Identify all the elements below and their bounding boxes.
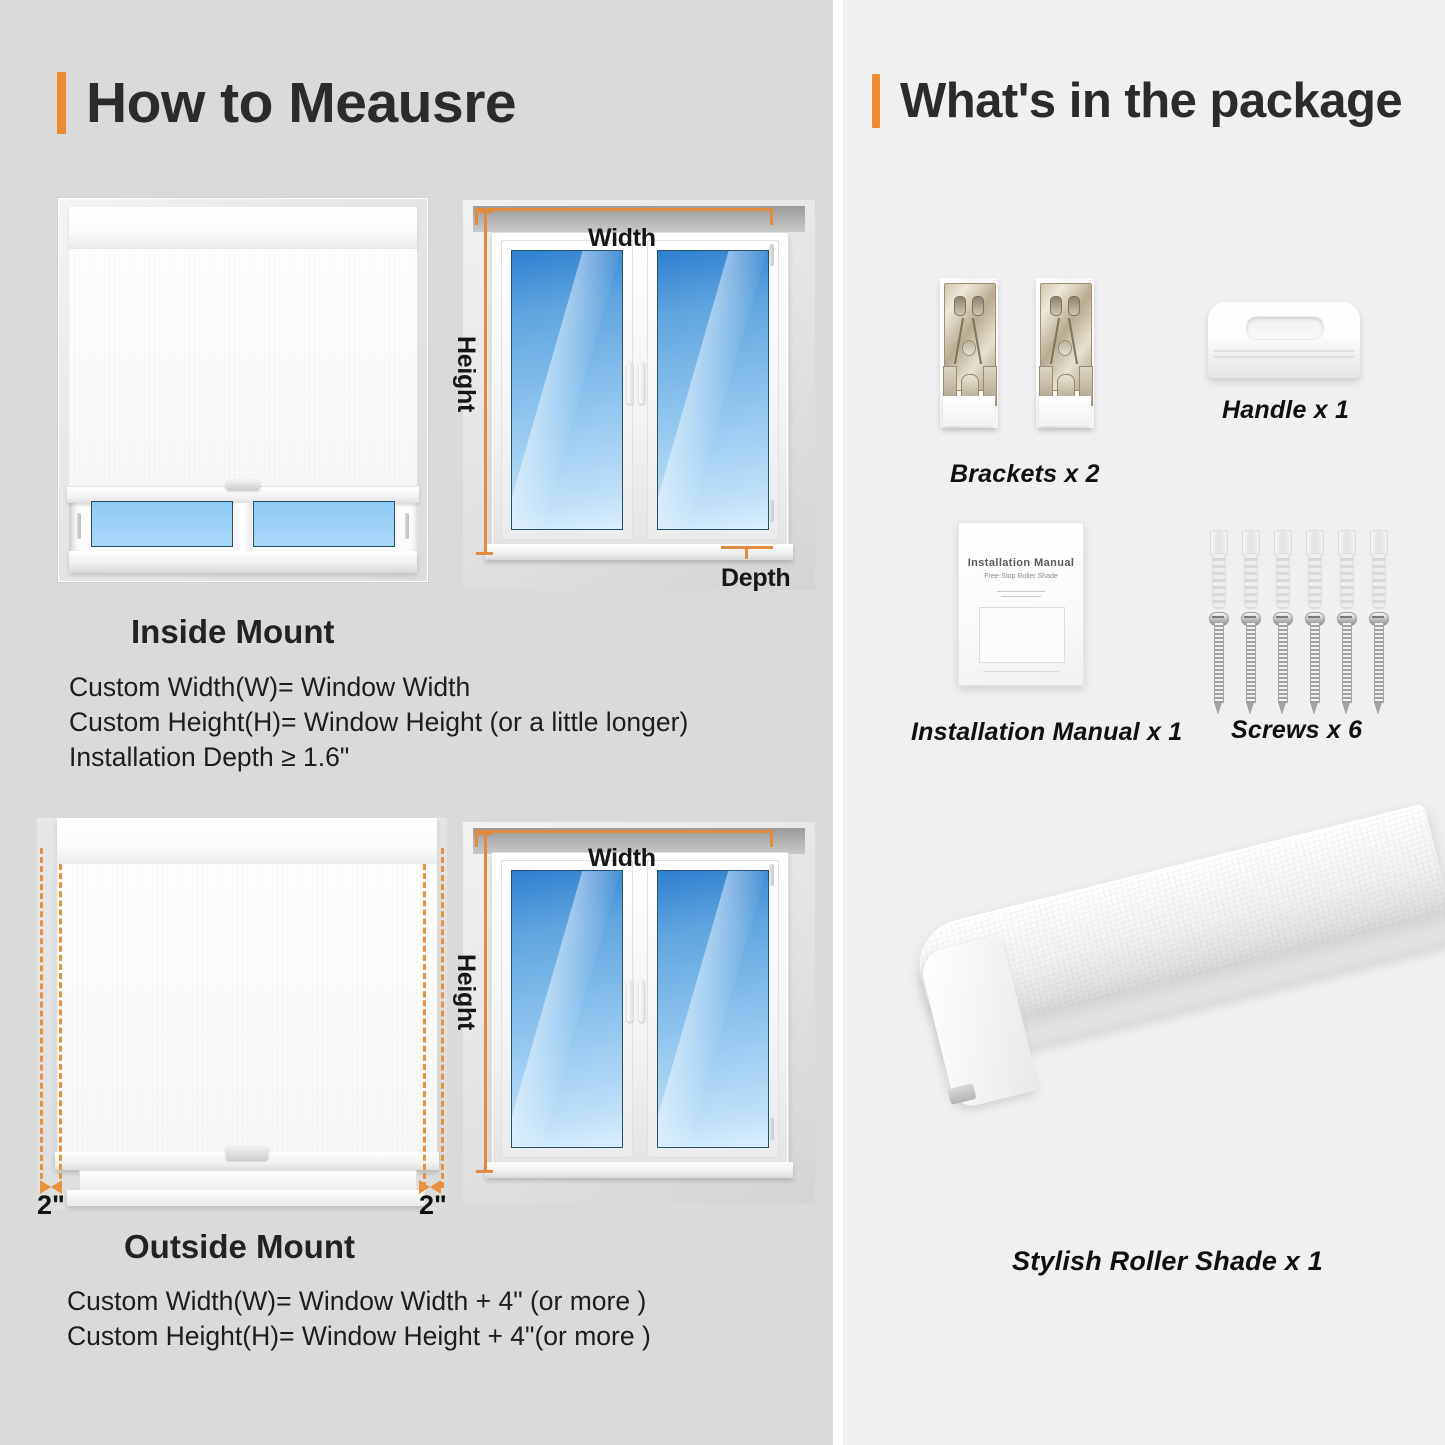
overhang-label-right: 2" <box>419 1190 447 1221</box>
width-dimension-line <box>475 208 773 211</box>
width-dimension-cap-right <box>770 208 773 225</box>
accent-bar-icon <box>57 72 66 134</box>
window-handle-right <box>639 980 645 1022</box>
window-glass-right <box>657 250 769 530</box>
inside-mount-spec-line: Custom Height(H)= Window Height (or a li… <box>69 705 688 740</box>
outside-mount-title: Outside Mount <box>124 1228 355 1266</box>
wall-anchor-icon <box>1336 530 1356 608</box>
window-sill <box>67 1190 425 1206</box>
window-sill <box>69 551 417 573</box>
screw-icon <box>1369 612 1387 716</box>
window-hinge-bottom <box>769 1118 774 1140</box>
outside-mount-shade-illustration <box>37 818 447 1210</box>
window-hinge-top <box>769 864 774 886</box>
wall-anchor-icon <box>1240 530 1260 608</box>
manual-icon: Installation Manual Free-Stop Roller Sha… <box>958 522 1084 686</box>
window-glass-left <box>91 501 233 547</box>
window-hinge-bottom <box>769 500 774 522</box>
handle-grip-slot <box>1246 316 1324 340</box>
window-handle-left <box>627 362 633 404</box>
how-to-measure-heading-text: How to Meausre <box>86 75 516 132</box>
screw-icon <box>1305 612 1323 716</box>
width-dimension-line <box>475 830 773 833</box>
window-latch-left <box>77 513 81 539</box>
outside-mount-spec-line: Custom Height(H)= Window Height + 4"(or … <box>67 1319 651 1354</box>
handle-label: Handle x 1 <box>1222 396 1349 425</box>
manual-scribble <box>1001 596 1041 597</box>
shade-fabric <box>69 249 417 495</box>
handle-groove <box>1214 350 1354 352</box>
infographic-page: How to Meausre What's in the package <box>0 0 1445 1445</box>
panel-divider <box>833 0 843 1445</box>
window-handle-right <box>639 362 645 404</box>
manual-cover-title: Installation Manual <box>959 557 1083 569</box>
manual-label: Installation Manual x 1 <box>911 718 1182 747</box>
wall-anchor-icon <box>1272 530 1292 608</box>
roller-shade-icon <box>915 890 1435 1210</box>
shade-headrail <box>57 818 437 865</box>
height-dimension-line <box>484 832 487 1172</box>
how-to-measure-heading: How to Meausre <box>57 72 516 134</box>
window-hinge-top <box>769 244 774 266</box>
width-label: Width <box>588 224 656 253</box>
inside-mount-spec-line: Custom Width(W)= Window Width <box>69 670 688 705</box>
height-label: Height <box>451 954 480 1030</box>
outside-mount-specs: Custom Width(W)= Window Width + 4" (or m… <box>67 1284 651 1354</box>
window-sill <box>485 1162 793 1178</box>
package-heading-text: What's in the package <box>900 77 1402 126</box>
screw-icon <box>1273 612 1291 716</box>
window-recess <box>69 207 417 573</box>
depth-label: Depth <box>721 564 790 593</box>
screw-icon <box>1209 612 1227 716</box>
shade-headrail <box>69 207 417 250</box>
wall-anchor-icon <box>1208 530 1228 608</box>
window-handle-left <box>627 980 633 1022</box>
manual-scribble <box>997 591 1045 592</box>
screws-label: Screws x 6 <box>1231 716 1362 745</box>
height-dimension-line <box>484 210 487 554</box>
screw-icon <box>1241 612 1259 716</box>
outside-mount-window-diagram: Width Height <box>463 822 815 1204</box>
handle-icon <box>1208 302 1360 378</box>
bracket-icon <box>940 278 998 428</box>
roller-shade-label: Stylish Roller Shade x 1 <box>1012 1246 1323 1277</box>
window-sash-behind <box>79 1170 417 1192</box>
shade-fabric <box>57 864 437 1154</box>
height-label: Height <box>451 336 480 412</box>
width-label: Width <box>588 844 656 873</box>
manual-cover-image <box>979 607 1065 663</box>
height-dimension-cap-bottom <box>476 552 493 555</box>
overhang-guide-left-inner <box>59 864 62 1188</box>
accent-bar-icon <box>872 74 880 128</box>
height-dimension-cap-bottom <box>476 1170 493 1173</box>
wall-anchor-icon <box>1304 530 1324 608</box>
inside-mount-title: Inside Mount <box>131 613 334 651</box>
overhang-label-left: 2" <box>37 1190 65 1221</box>
overhang-guide-right-inner <box>423 864 426 1188</box>
depth-dimension-cap <box>745 546 748 559</box>
screw-icon <box>1337 612 1355 716</box>
outside-mount-spec-line: Custom Width(W)= Window Width + 4" (or m… <box>67 1284 651 1319</box>
inside-mount-spec-line: Installation Depth ≥ 1.6" <box>69 740 688 775</box>
manual-cover-subtitle: Free-Stop Roller Shade <box>959 573 1083 580</box>
window-glass-right <box>657 870 769 1148</box>
brackets-label: Brackets x 2 <box>950 460 1100 489</box>
window-latch-right <box>405 513 409 539</box>
height-dimension-cap-top <box>476 832 493 835</box>
wall-anchor-icon <box>1368 530 1388 608</box>
window-glass-left <box>511 250 623 530</box>
shade-pull-tab <box>226 480 260 490</box>
inside-mount-specs: Custom Width(W)= Window Width Custom Hei… <box>69 670 688 776</box>
width-dimension-cap-right <box>770 830 773 847</box>
handle-groove <box>1214 356 1354 358</box>
overhang-guide-right-outer <box>441 848 444 1188</box>
overhang-guide-left-outer <box>40 848 43 1188</box>
package-heading: What's in the package <box>872 74 1402 128</box>
window-glass-left <box>511 870 623 1148</box>
inside-mount-window-diagram: Width Height Depth <box>463 200 815 590</box>
shade-pull-tab <box>226 1146 268 1160</box>
inside-mount-shade-illustration <box>57 197 429 583</box>
height-dimension-cap-top <box>476 210 493 213</box>
manual-footer-rule <box>983 671 1059 672</box>
window-glass-right <box>253 501 395 547</box>
bracket-icon <box>1036 278 1094 428</box>
